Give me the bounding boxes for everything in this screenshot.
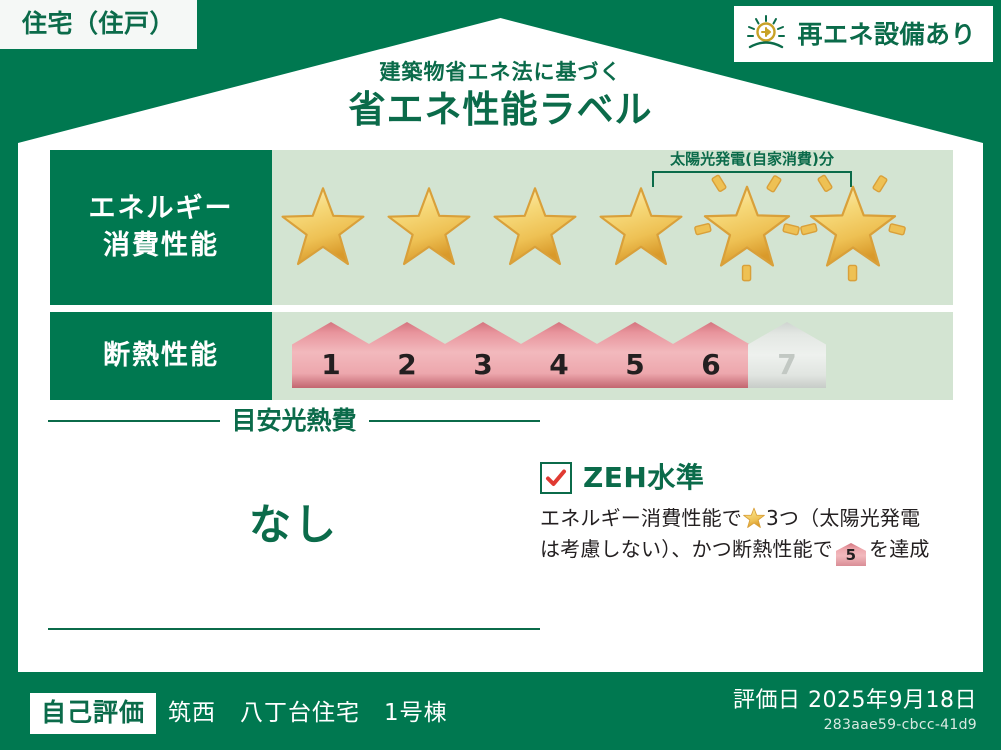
evaluation-id: 283aae59-cbcc-41d9 [733, 716, 977, 736]
energy-performance-label-cell: エネルギー 消費性能 [50, 150, 272, 305]
renewable-equipment-badge: 再エネ設備あり [734, 6, 993, 62]
insulation-grade-7: 7 [748, 322, 826, 388]
star-rating: 太陽光発電(自家消費)分 [272, 150, 953, 305]
renewable-badge-label: 再エネ設備あり [797, 22, 976, 47]
insulation-grade-1: 1 [292, 322, 370, 388]
evaluation-type-badge: 自己評価 [30, 693, 156, 734]
estimated-utility-cost-heading: 目安光熱費 [232, 408, 357, 433]
building-name: 筑西 八丁台住宅 1号棟 [168, 702, 448, 725]
insulation-grade-5: 5 [596, 322, 674, 388]
footer-left: 自己評価 筑西 八丁台住宅 1号棟 [30, 693, 448, 734]
header-rule-left [48, 420, 220, 422]
insulation-performance-value-cell: 1 2 3 4 5 6 7 [272, 312, 953, 400]
insulation-grade-3: 3 [444, 322, 522, 388]
zeh-desc-part2: は考慮しない）、かつ断熱性能で [540, 537, 833, 561]
zeh-heading-row: ZEH水準 [540, 462, 952, 494]
header-rule-right [369, 420, 541, 422]
energy-label-line1: エネルギー [89, 191, 234, 227]
estimated-utility-cost-header: 目安光熱費 [48, 408, 540, 433]
insulation-grade-6: 6 [672, 322, 750, 388]
insulation-grade-scale: 1 2 3 4 5 6 7 [272, 312, 953, 400]
zeh-checkbox[interactable] [540, 462, 572, 494]
insulation-performance-row: 断熱性能 1 2 3 4 5 6 7 [50, 312, 953, 400]
zeh-title: ZEH水準 [583, 464, 704, 492]
solar-annotation-label: 太陽光発電(自家消費)分 [652, 152, 852, 167]
evaluation-date: 評価日 2025年9月18日 [733, 688, 977, 714]
estimated-utility-cost-value: なし [48, 491, 540, 552]
solar-sun-icon [745, 14, 787, 54]
estimated-utility-cost-bottom-rule [48, 628, 540, 630]
label-title-block: 建築物省エネ法に基づく 省エネ性能ラベル [0, 60, 1001, 133]
footer-right: 評価日 2025年9月18日 283aae59-cbcc-41d9 [733, 688, 977, 736]
check-icon [545, 467, 567, 489]
star-icon [386, 184, 472, 270]
solar-star-icon [688, 168, 806, 286]
inline-grade-badge: 5 [836, 543, 866, 566]
zeh-desc-star-count: 3つ（太陽光発電 [766, 506, 920, 530]
title-subtitle: 建築物省エネ法に基づく [0, 60, 1001, 85]
title-main: 省エネ性能ラベル [0, 87, 1001, 133]
estimated-utility-cost-section: 目安光熱費 なし [48, 408, 540, 630]
insulation-label: 断熱性能 [103, 338, 219, 374]
insulation-performance-label-cell: 断熱性能 [50, 312, 272, 400]
zeh-standard-section: ZEH水準 エネルギー消費性能で 3つ（太陽光発電は考慮しない）、かつ断熱性能で… [540, 462, 952, 566]
inline-star-icon [743, 507, 765, 529]
solar-star-icon [794, 168, 912, 286]
star-icon [598, 184, 684, 270]
energy-label-line2: 消費性能 [103, 228, 219, 264]
energy-performance-value-cell: 太陽光発電(自家消費)分 [272, 150, 953, 305]
insulation-grade-4: 4 [520, 322, 598, 388]
zeh-desc-part1: エネルギー消費性能で [540, 506, 742, 530]
zeh-description: エネルギー消費性能で 3つ（太陽光発電は考慮しない）、かつ断熱性能で5を達成 [540, 503, 952, 566]
building-type-tag: 住宅（住戸） [0, 0, 197, 49]
energy-performance-label: 住宅（住戸） 再エネ設備あり 建築物省エネ法に基づく [0, 0, 1001, 750]
energy-performance-row: エネルギー 消費性能 太陽光発電(自家消費)分 [50, 150, 953, 305]
star-icon [492, 184, 578, 270]
zeh-desc-part3: を達成 [869, 537, 930, 561]
insulation-grade-2: 2 [368, 322, 446, 388]
star-icon [280, 184, 366, 270]
